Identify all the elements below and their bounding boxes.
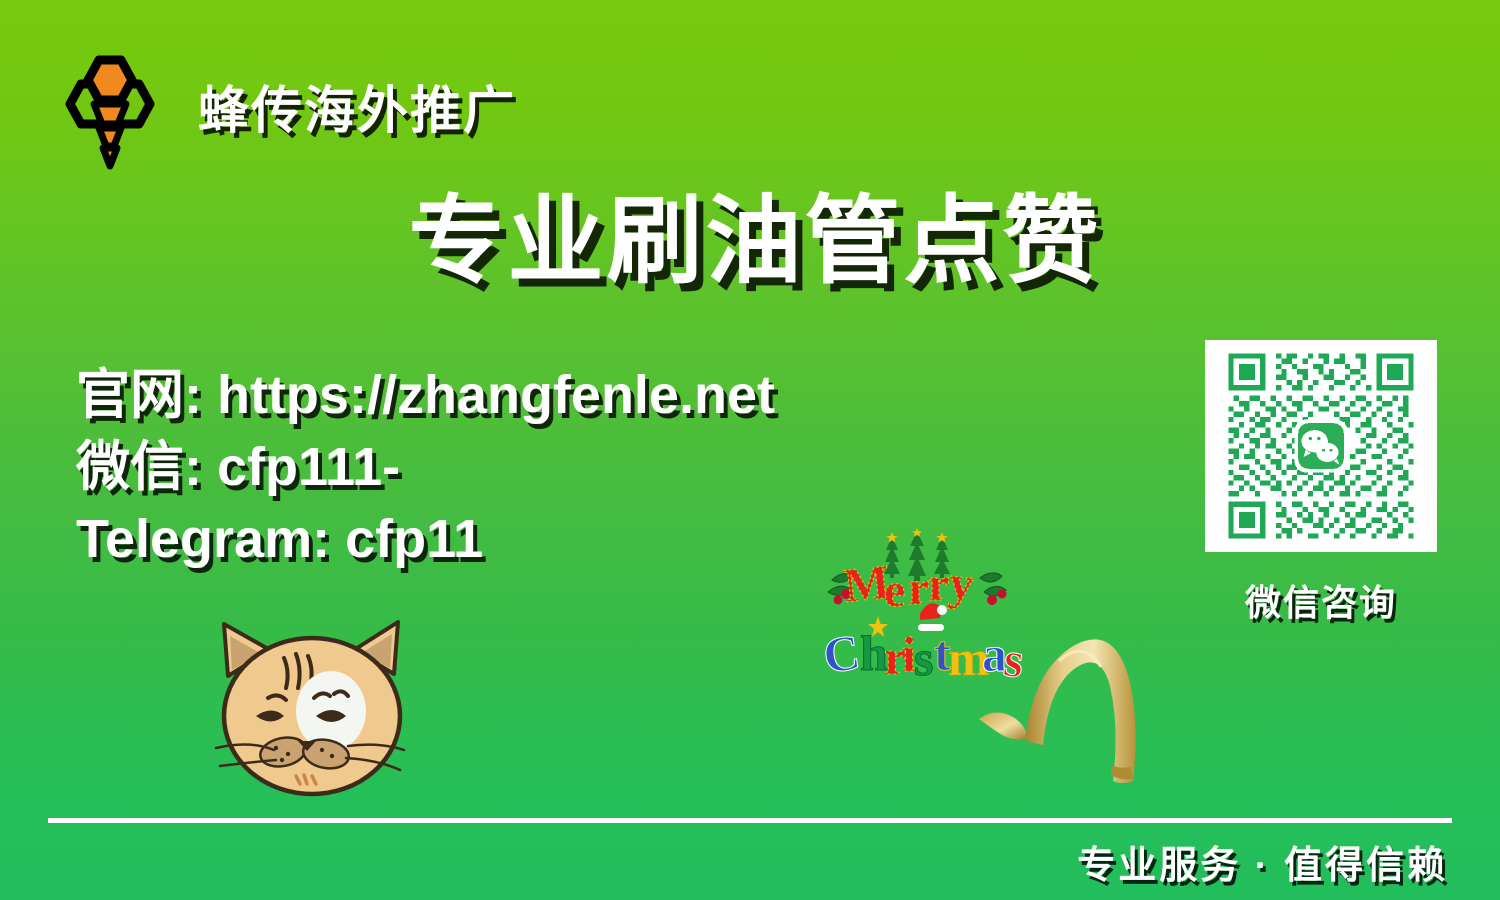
bee-hexagon-logo-icon — [48, 48, 172, 172]
qr-caption: 微信咨询 — [1205, 574, 1437, 626]
brand-name: 蜂传海外推广 — [198, 85, 516, 136]
promo-poster: 蜂传海外推广 专业刷油管点赞 官网: https://zhangfenle.ne… — [0, 0, 1500, 900]
svg-text:e: e — [884, 564, 905, 617]
svg-text:s: s — [914, 630, 933, 686]
svg-text:r: r — [928, 558, 949, 611]
qr-panel: 微信咨询 — [1205, 340, 1437, 626]
wechat-qr-code[interactable] — [1205, 340, 1437, 552]
gold-curled-ribbon — [975, 615, 1150, 795]
footer-divider — [48, 818, 1452, 823]
wechat-logo-icon — [1295, 420, 1348, 473]
contact-line-wechat: 微信: cfp111- — [76, 432, 896, 504]
svg-text:y: y — [947, 556, 976, 611]
contact-line-telegram: Telegram: cfp11 — [76, 504, 896, 576]
brand-row: 蜂传海外推广 — [48, 48, 516, 172]
contact-block: 官网: https://zhangfenle.net 微信: cfp111- T… — [76, 360, 896, 575]
cat-face-sticker — [198, 598, 428, 803]
footer-slogan: 专业服务 · 值得信赖 — [1077, 834, 1448, 889]
page-title: 专业刷油管点赞 — [0, 192, 1500, 293]
svg-text:C: C — [822, 623, 863, 683]
contact-line-website: 官网: https://zhangfenle.net — [76, 360, 896, 432]
